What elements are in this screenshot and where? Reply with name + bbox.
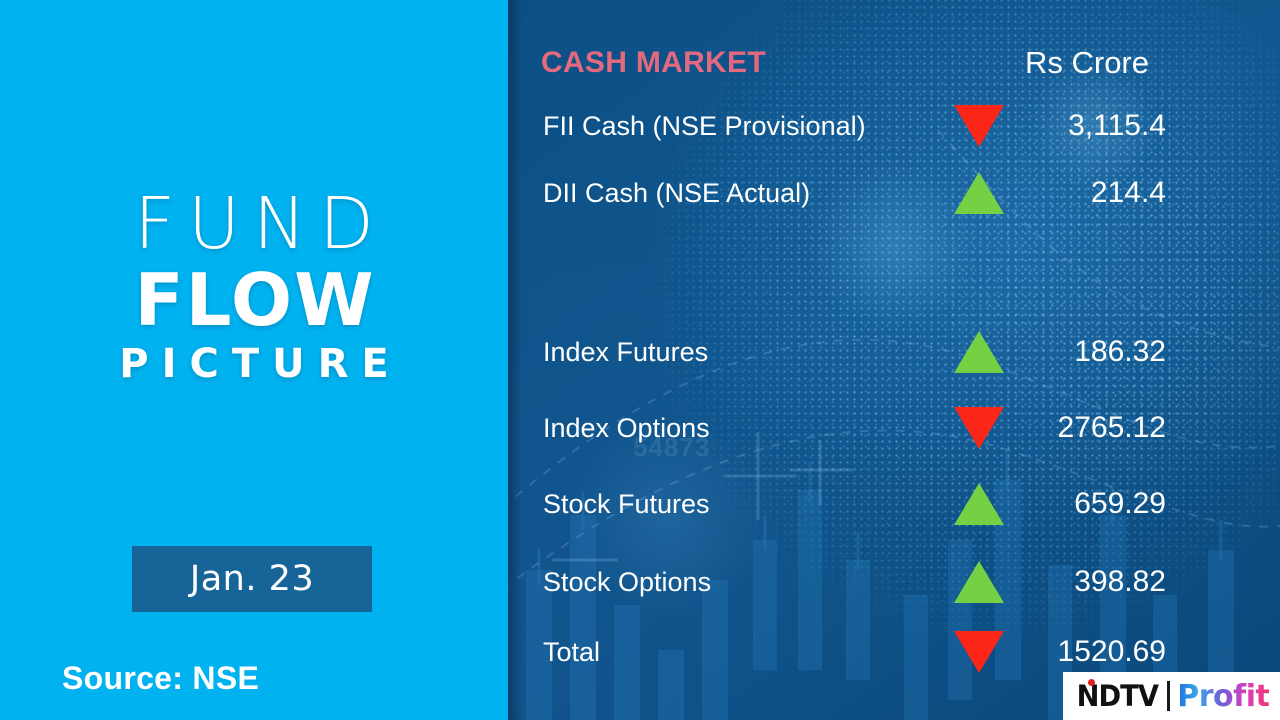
date-badge-label: Jan. 23	[190, 559, 314, 599]
date-badge: Jan. 23	[132, 546, 372, 612]
brand-logotype: FUND FLOW PICTURE	[0, 186, 508, 390]
logo-divider	[1167, 681, 1170, 711]
row-direction-indicator	[955, 170, 1003, 216]
row-direction-indicator	[955, 629, 1003, 675]
source-attribution: Source: NSE	[62, 660, 259, 697]
triangle-down-icon	[954, 407, 1004, 449]
triangle-up-icon	[954, 561, 1004, 603]
row-direction-indicator	[955, 103, 1003, 149]
row-direction-indicator	[955, 405, 1003, 451]
row-value: 659.29	[1008, 481, 1166, 527]
brand-line-flow: FLOW	[0, 262, 508, 338]
table-row: Index Futures186.32	[508, 329, 1280, 375]
fund-flow-picture-graphic: FUND FLOW PICTURE Jan. 23 Source: NSE	[0, 0, 1280, 720]
row-label: Stock Options	[543, 559, 711, 605]
logo-red-dot-icon	[1088, 679, 1095, 686]
left-branding-panel: FUND FLOW PICTURE Jan. 23 Source: NSE	[0, 0, 508, 720]
table-row: Index Options2765.12	[508, 405, 1280, 451]
triangle-up-icon	[954, 172, 1004, 214]
row-direction-indicator	[955, 481, 1003, 527]
row-label: Index Options	[543, 405, 710, 451]
logo-profit-text: Profit	[1177, 679, 1269, 714]
table-row: DII Cash (NSE Actual)214.4	[508, 170, 1280, 216]
table-row: Total1520.69	[508, 629, 1280, 675]
row-label: Index Futures	[543, 329, 708, 375]
ndtv-profit-logo: NDTV Profit	[1063, 672, 1280, 720]
row-value: 2765.12	[1008, 405, 1166, 451]
row-value: 186.32	[1008, 329, 1166, 375]
row-direction-indicator	[955, 329, 1003, 375]
row-label: DII Cash (NSE Actual)	[543, 170, 810, 216]
row-value: 3,115.4	[1008, 103, 1166, 149]
triangle-down-icon	[954, 631, 1004, 673]
brand-line-fund: FUND	[0, 186, 508, 262]
table-row: FII Cash (NSE Provisional)3,115.4	[508, 103, 1280, 149]
row-value: 398.82	[1008, 559, 1166, 605]
triangle-up-icon	[954, 331, 1004, 373]
row-label: Total	[543, 629, 600, 675]
triangle-down-icon	[954, 105, 1004, 147]
row-value: 1520.69	[1008, 629, 1166, 675]
table-row: Stock Options398.82	[508, 559, 1280, 605]
data-panel: 54873 CASH MARKET Rs Crore FII Cash (NSE…	[508, 0, 1280, 720]
row-value: 214.4	[1008, 170, 1166, 216]
row-label: Stock Futures	[543, 481, 710, 527]
row-label: FII Cash (NSE Provisional)	[543, 103, 866, 149]
row-direction-indicator	[955, 559, 1003, 605]
brand-line-picture: PICTURE	[0, 338, 508, 390]
fund-flow-table: FII Cash (NSE Provisional)3,115.4DII Cas…	[508, 0, 1280, 720]
table-row: Stock Futures659.29	[508, 481, 1280, 527]
triangle-up-icon	[954, 483, 1004, 525]
